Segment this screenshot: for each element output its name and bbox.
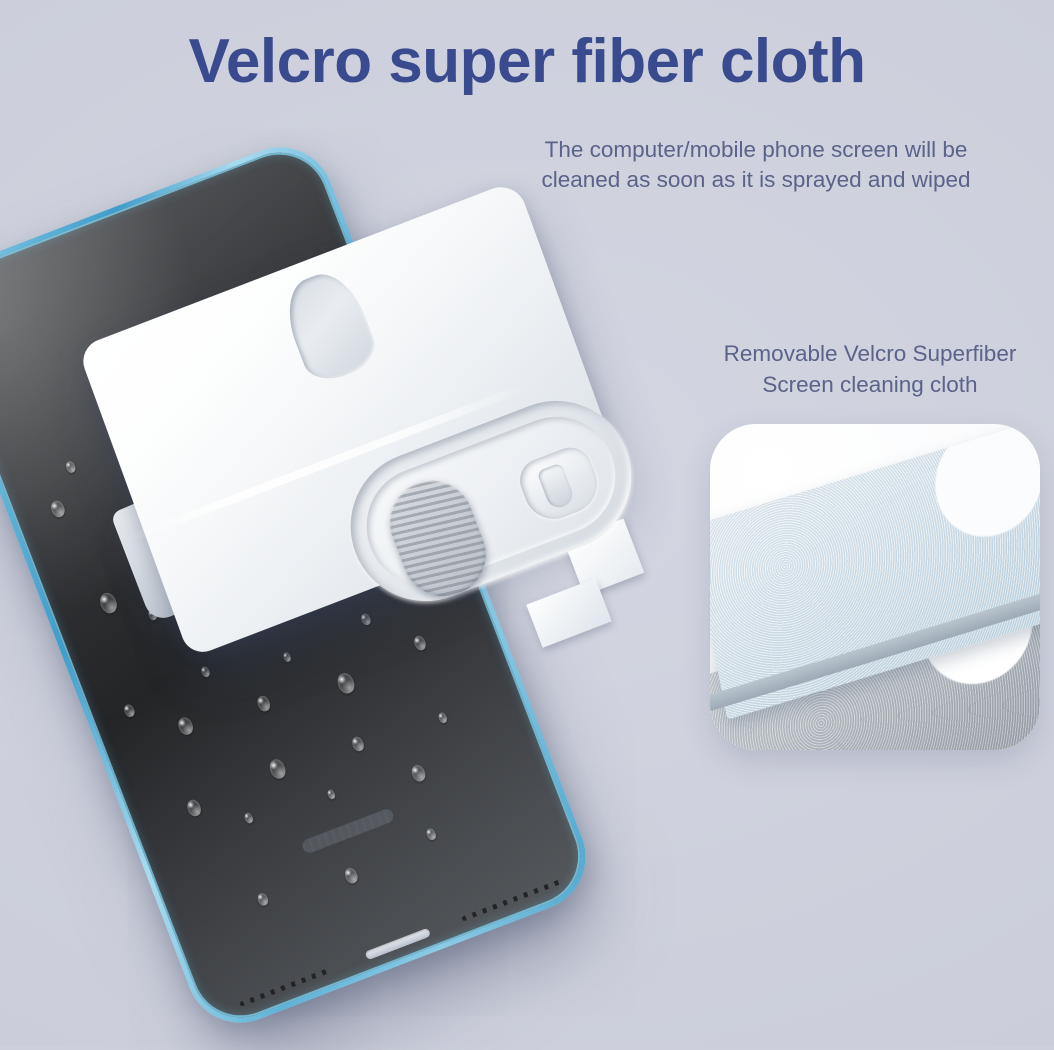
- screen-cleaner-device: [96, 228, 676, 698]
- spray-nozzle: [514, 441, 606, 527]
- subtitle-line-2: cleaned as soon as it is sprayed and wip…: [472, 165, 1040, 195]
- cloth-detail-inset: [710, 424, 1040, 750]
- device-step-tab-lower: [526, 578, 612, 647]
- inset-caption-line-2: Screen cleaning cloth: [690, 369, 1050, 400]
- page-subtitle: The computer/mobile phone screen will be…: [472, 135, 1040, 195]
- speaker-grille-right: [461, 878, 564, 921]
- charging-port: [364, 928, 431, 961]
- product-image-canvas: Velcro super fiber cloth The computer/mo…: [0, 0, 1054, 1046]
- page-title: Velcro super fiber cloth: [0, 26, 1054, 97]
- speaker-grille-left: [239, 968, 330, 1007]
- subtitle-line-1: The computer/mobile phone screen will be: [472, 135, 1040, 165]
- slider-button[interactable]: [378, 468, 499, 608]
- inset-caption: Removable Velcro Superfiber Screen clean…: [690, 338, 1050, 400]
- inset-caption-line-1: Removable Velcro Superfiber: [690, 338, 1050, 369]
